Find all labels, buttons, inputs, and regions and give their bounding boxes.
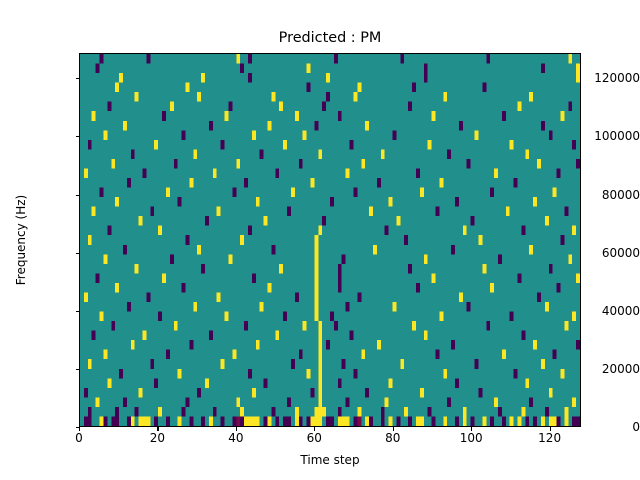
y-tick-mark [76, 369, 80, 370]
y-tick-mark [76, 136, 80, 137]
heatmap-image [80, 54, 580, 426]
matplotlib-figure: Predicted : PM 0200004000060000800001000… [0, 0, 640, 480]
x-tick-label: 0 [49, 432, 109, 444]
y-tick-label: 20000 [574, 363, 640, 375]
x-tick-label: 100 [441, 432, 501, 444]
x-tick-mark [314, 427, 315, 431]
y-tick-label: 40000 [574, 305, 640, 317]
y-tick-mark [76, 311, 80, 312]
y-axis-label: Frequency (Hz) [14, 140, 28, 340]
x-tick-mark [236, 427, 237, 431]
chart-title: Predicted : PM [79, 29, 581, 47]
x-tick-mark [471, 427, 472, 431]
x-tick-mark [393, 427, 394, 431]
y-tick-mark [76, 253, 80, 254]
x-tick-label: 80 [363, 432, 423, 444]
y-tick-label: 120000 [574, 72, 640, 84]
y-tick-mark [76, 78, 80, 79]
x-tick-mark [550, 427, 551, 431]
x-tick-label: 40 [206, 432, 266, 444]
x-tick-mark [79, 427, 80, 431]
heatmap-axes [79, 53, 581, 427]
x-tick-label: 120 [520, 432, 580, 444]
x-tick-mark [157, 427, 158, 431]
y-tick-mark [76, 195, 80, 196]
x-tick-label: 60 [284, 432, 344, 444]
y-tick-label: 80000 [574, 189, 640, 201]
x-tick-label: 20 [127, 432, 187, 444]
y-tick-label: 0 [574, 421, 640, 433]
y-tick-label: 60000 [574, 247, 640, 259]
y-tick-label: 100000 [574, 130, 640, 142]
x-axis-label: Time step [79, 453, 581, 467]
